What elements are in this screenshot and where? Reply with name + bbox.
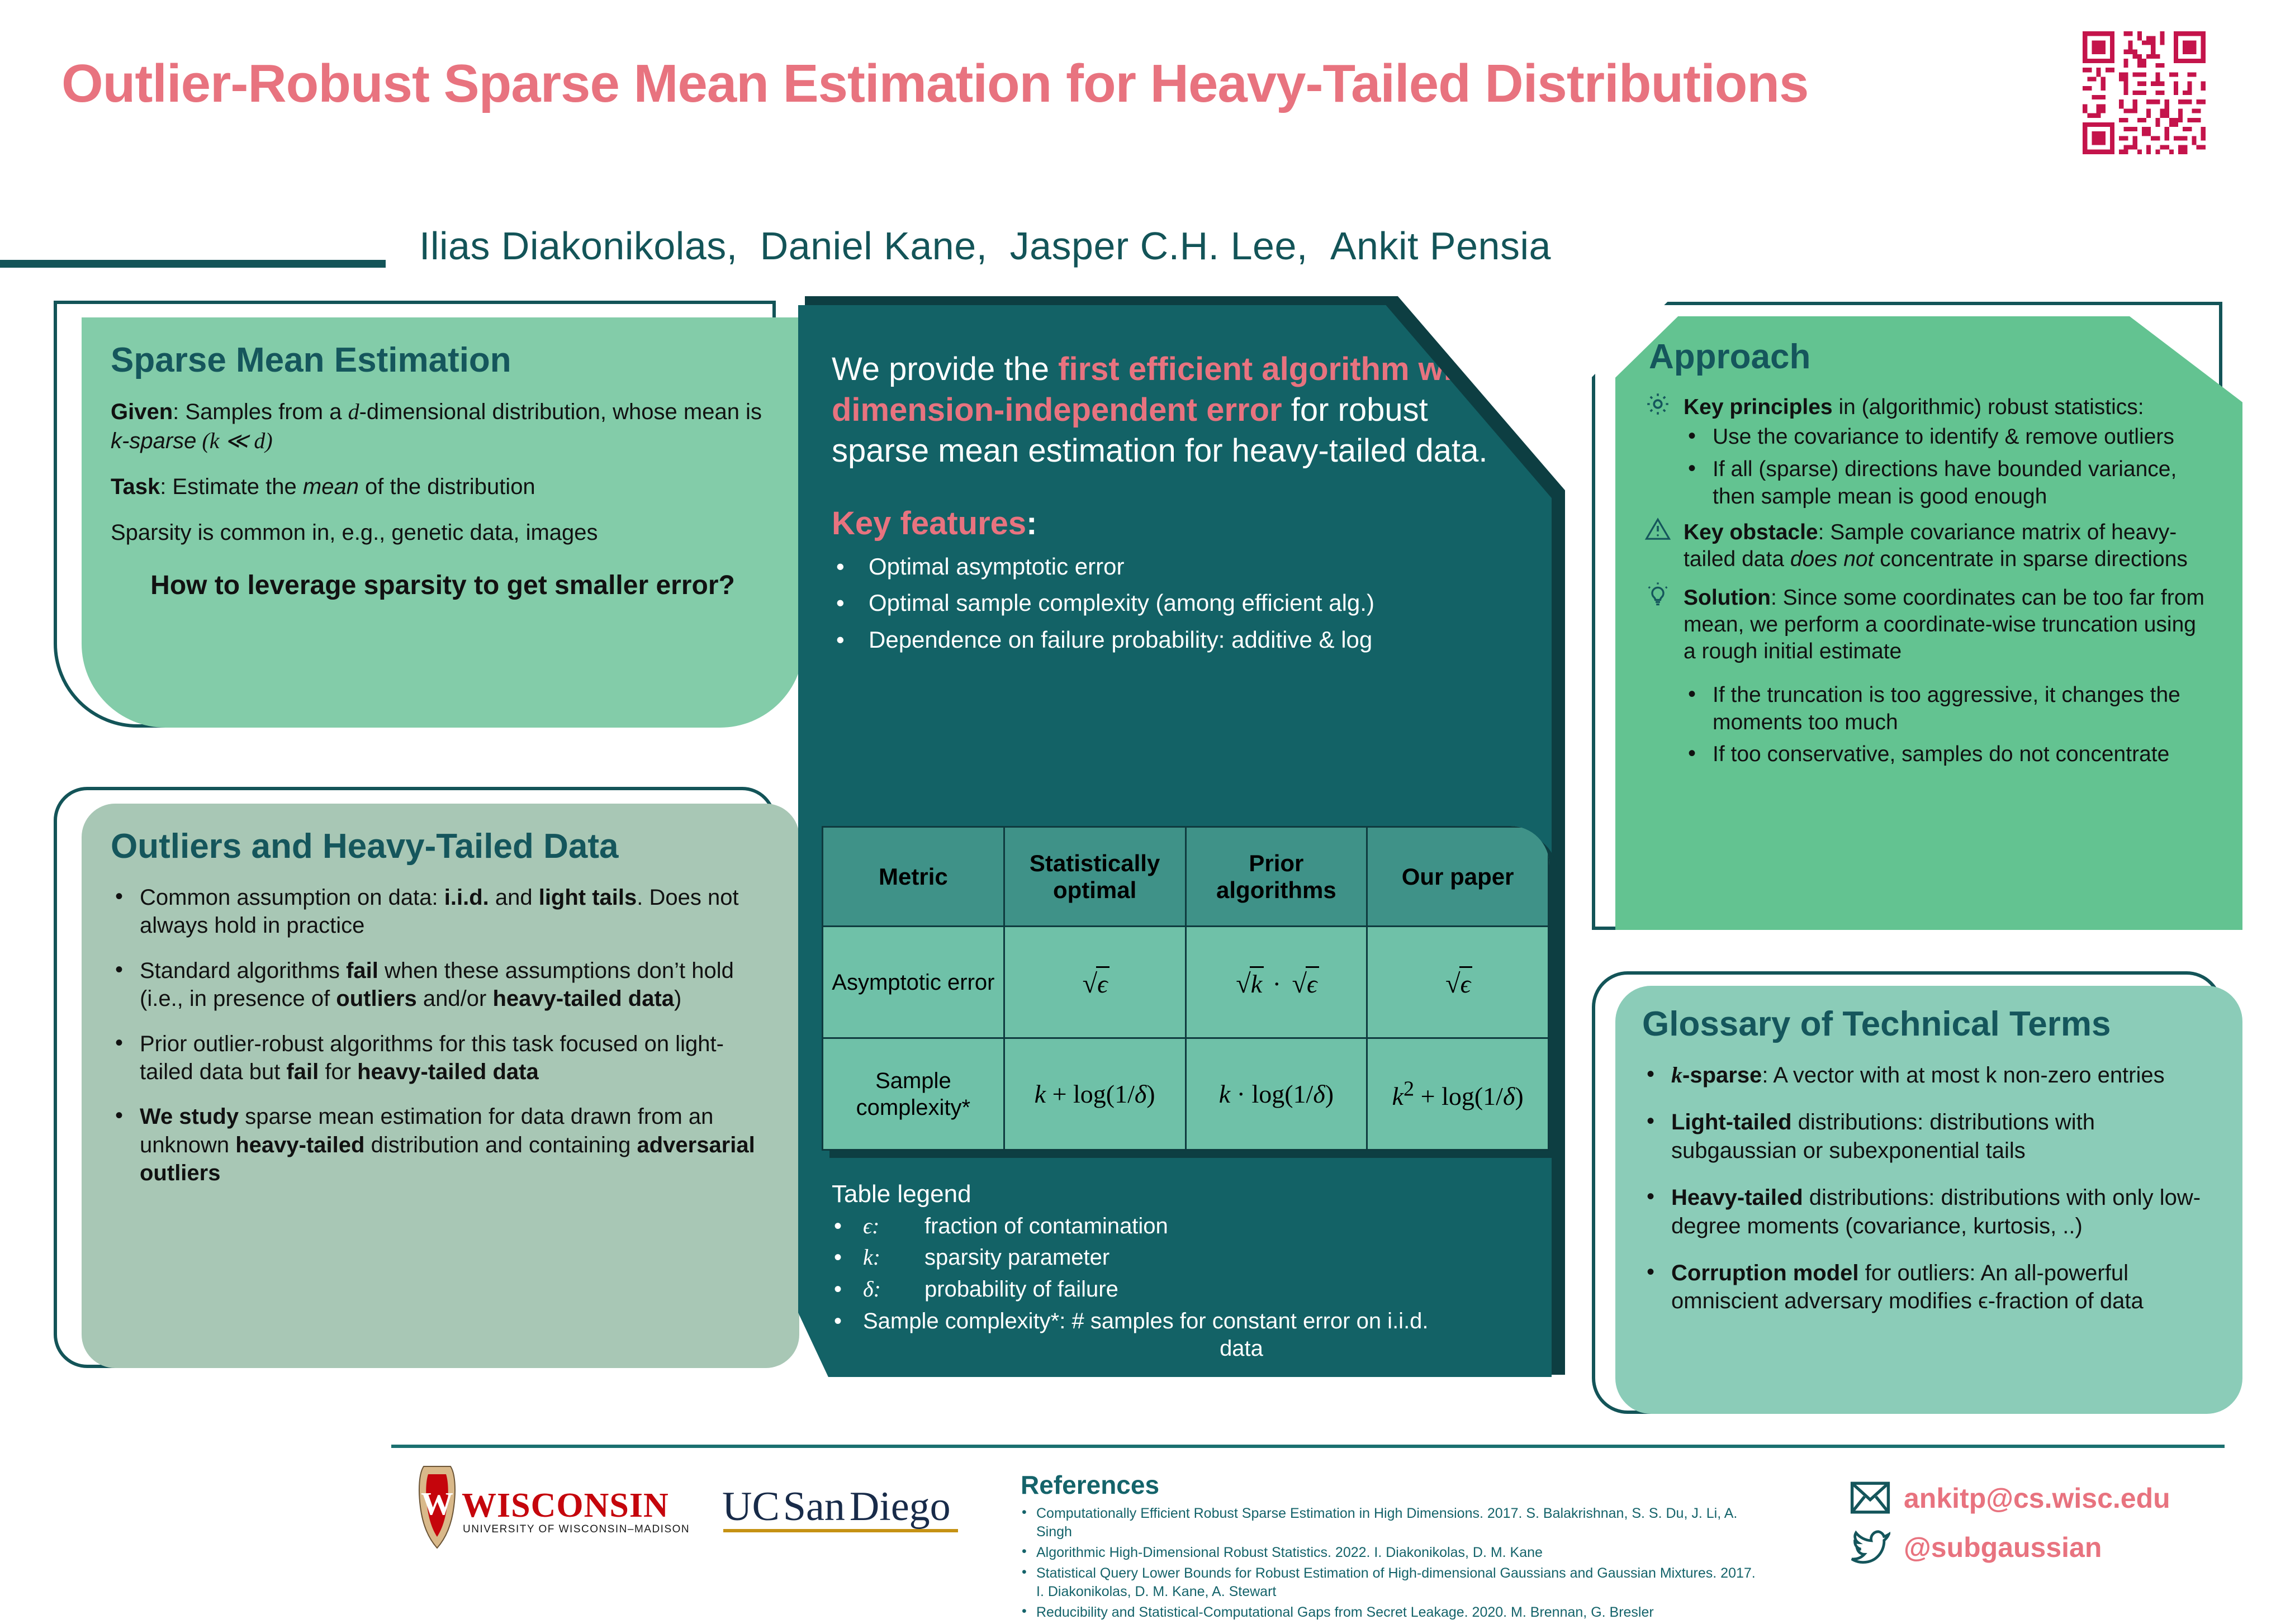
panel-outliers-heavy-tailed: Outliers and Heavy-Tailed Data Common as… <box>82 804 799 1368</box>
given-symbol-d: d <box>348 399 359 424</box>
list-item: Statistical Query Lower Bounds for Robus… <box>1021 1564 1758 1601</box>
key-obstacle-label: Key obstacle <box>1684 520 1818 544</box>
twitter-handle-text[interactable]: @subgaussian <box>1904 1531 2102 1564</box>
task-emphasis: mean <box>303 474 359 499</box>
col-prior-algorithms: Prior algorithms <box>1186 827 1367 927</box>
panel-heading: Glossary of Technical Terms <box>1642 1006 2216 1042</box>
key-features-heading: Key features: <box>832 505 1518 542</box>
cell-our-paper: ϵ <box>1367 927 1549 1038</box>
legend-text: probability of failure <box>924 1277 1118 1302</box>
panel-glossary: Glossary of Technical Terms k-sparse: A … <box>1615 986 2242 1414</box>
table-row: Asymptotic error ϵ k · ϵ ϵ <box>823 927 1549 1038</box>
given-ksparse: k-sparse <box>111 429 196 453</box>
list-item: Standard algorithms fail when these assu… <box>111 957 770 1013</box>
glossary-def: : A vector with at most k non-zero entri… <box>1762 1063 2164 1088</box>
given-paragraph: Given: Samples from a d-dimensional dist… <box>111 397 775 455</box>
gear-icon <box>1644 391 1677 423</box>
solution-block: Solution: Since some coordinates can be … <box>1649 585 2213 768</box>
main-claim: We provide the first efficient algorithm… <box>832 349 1518 471</box>
glossary-list: k-sparse: A vector with at most k non-ze… <box>1642 1061 2216 1316</box>
cell-stat-optimal: ϵ <box>1004 927 1186 1038</box>
table-legend: Table legend ϵ:fraction of contamination… <box>832 1179 1536 1367</box>
logo-university-of-wisconsin: W WISCONSIN UNIVERSITY OF WISCONSIN–MADI… <box>414 1463 704 1552</box>
list-item: k:sparsity parameter <box>832 1244 1536 1271</box>
col-metric: Metric <box>823 827 1004 927</box>
list-item: Algorithmic High-Dimensional Robust Stat… <box>1021 1544 1758 1562</box>
list-item: If the truncation is too aggressive, it … <box>1684 681 2213 736</box>
col-our-paper: Our paper <box>1367 827 1549 927</box>
panel-approach: Approach Key principles in (algorithmic)… <box>1615 316 2242 930</box>
panel-heading: Approach <box>1649 339 2213 375</box>
legend-heading: Table legend <box>832 1179 1536 1209</box>
list-item: Heavy-tailed distributions: distribution… <box>1642 1184 2216 1240</box>
key-principles-label: Key principles <box>1684 395 1833 419</box>
svg-text:W: W <box>421 1485 453 1522</box>
list-item: Reducibility and Statistical-Computation… <box>1021 1603 1758 1622</box>
list-item: If too conservative, samples do not conc… <box>1684 740 2213 768</box>
key-obstacle-block: Key obstacle: Sample covariance matrix o… <box>1649 519 2213 573</box>
outliers-bullet-list: Common assumption on data: i.i.d. and li… <box>111 884 770 1188</box>
list-item: k-sparse: A vector with at most k non-ze… <box>1642 1061 2216 1089</box>
legend-last-text: Sample complexity*: # samples for consta… <box>863 1309 1429 1333</box>
list-item: Computationally Efficient Robust Sparse … <box>1021 1504 1758 1541</box>
author-name: Daniel Kane, <box>760 224 988 268</box>
sparsity-note: Sparsity is common in, e.g., genetic dat… <box>111 518 775 547</box>
table-header-row: Metric Statistically optimal Prior algor… <box>823 827 1549 927</box>
key-principles-bullets: Use the covariance to identify & remove … <box>1684 423 2213 510</box>
logo-uc-san-diego: UCSanDiego <box>721 1481 961 1542</box>
contact-section: ankitp@cs.wisc.edu @subgaussian <box>1850 1481 2253 1579</box>
legend-last-text-2: data <box>863 1335 1536 1362</box>
claim-pre: We provide the <box>832 351 1058 387</box>
twitter-bird-icon <box>1850 1530 1890 1565</box>
key-principles-rest: in (algorithmic) robust statistics: <box>1833 395 2144 419</box>
key-principles-text: Key principles in (algorithmic) robust s… <box>1684 394 2213 421</box>
key-principles-block: Key principles in (algorithmic) robust s… <box>1649 394 2213 510</box>
task-text-a: : Estimate the <box>160 474 303 499</box>
list-item: ϵ:fraction of contamination <box>832 1213 1536 1240</box>
list-item: δ:probability of failure <box>832 1276 1536 1303</box>
panel-sparse-mean-estimation: Sparse Mean Estimation Given: Samples fr… <box>82 317 804 728</box>
envelope-icon <box>1850 1481 1890 1516</box>
task-paragraph: Task: Estimate the mean of the distribut… <box>111 472 775 501</box>
list-item: Sample complexity*: # samples for consta… <box>832 1308 1536 1362</box>
author-rule <box>0 260 386 268</box>
col-statistically-optimal: Statistically optimal <box>1004 827 1186 927</box>
given-text-a: : Samples from a <box>173 400 348 424</box>
qr-code-icon[interactable] <box>2078 27 2210 159</box>
list-item: Prior outlier-robust algorithms for this… <box>111 1030 770 1086</box>
solution-label: Solution <box>1684 586 1771 610</box>
panel-heading: Outliers and Heavy-Tailed Data <box>111 828 770 865</box>
obstacle-emphasis: does not <box>1790 547 1874 571</box>
key-features-label: Key features <box>832 505 1026 542</box>
contact-twitter-row[interactable]: @subgaussian <box>1850 1530 2253 1565</box>
glossary-term: Light-tailed <box>1671 1110 1792 1134</box>
svg-text:UNIVERSITY OF WISCONSIN–MADISO: UNIVERSITY OF WISCONSIN–MADISON <box>463 1523 690 1535</box>
list-item: Light-tailed distributions: distribution… <box>1642 1108 2216 1165</box>
research-question: How to leverage sparsity to get smaller … <box>111 569 775 602</box>
cell-stat-optimal: k + log(1/δ) <box>1004 1038 1186 1150</box>
cell-prior-alg: k · log(1/δ) <box>1186 1038 1367 1150</box>
legend-text: sparsity parameter <box>924 1245 1109 1270</box>
svg-text:UCSanDiego: UCSanDiego <box>722 1484 951 1530</box>
panel-heading: Sparse Mean Estimation <box>111 342 775 378</box>
page-title: Outlier-Robust Sparse Mean Estimation fo… <box>61 56 2051 112</box>
key-features-colon: : <box>1026 505 1037 542</box>
glossary-term: Corruption model <box>1671 1261 1859 1285</box>
cell-metric: Sample complexity* <box>823 1038 1004 1150</box>
glossary-term: Heavy-tailed <box>1671 1185 1803 1210</box>
cell-our-paper: k2 + log(1/δ) <box>1367 1038 1549 1150</box>
solution-bullets: If the truncation is too aggressive, it … <box>1684 681 2213 768</box>
footer-divider <box>391 1445 2225 1448</box>
comparison-table: Metric Statistically optimal Prior algor… <box>822 826 1549 1151</box>
references-heading: References <box>1021 1470 1758 1500</box>
legend-symbol: ϵ: <box>863 1213 924 1240</box>
lightbulb-icon <box>1644 581 1677 614</box>
legend-text: fraction of contamination <box>924 1214 1168 1238</box>
contact-email-row[interactable]: ankitp@cs.wisc.edu <box>1850 1481 2253 1516</box>
list-item: Optimal asymptotic error <box>832 552 1518 581</box>
author-name: Jasper C.H. Lee, <box>1010 224 1308 268</box>
list-item: Common assumption on data: i.i.d. and li… <box>111 884 770 940</box>
svg-text:WISCONSIN: WISCONSIN <box>462 1487 669 1525</box>
list-item: If all (sparse) directions have bounded … <box>1684 455 2213 510</box>
list-item: Corruption model for outliers: An all-po… <box>1642 1259 2216 1316</box>
author-list: Ilias Diakonikolas,Daniel Kane,Jasper C.… <box>419 224 1573 268</box>
table-row: Sample complexity* k + log(1/δ) k · log(… <box>823 1038 1549 1150</box>
comparison-table-wrapper: Metric Statistically optimal Prior algor… <box>822 826 1549 1150</box>
task-label: Task <box>111 474 160 499</box>
legend-list: ϵ:fraction of contamination k:sparsity p… <box>832 1213 1536 1362</box>
task-text-b: of the distribution <box>359 474 535 499</box>
obstacle-text-b: concentrate in sparse directions <box>1874 547 2187 571</box>
given-text-b: -dimensional distribution, whose mean is <box>359 400 762 424</box>
list-item: Dependence on failure probability: addit… <box>832 625 1518 654</box>
given-label: Given <box>111 400 173 424</box>
list-item: Use the covariance to identify & remove … <box>1684 423 2213 450</box>
list-item: We study sparse mean estimation for data… <box>111 1103 770 1187</box>
solution-text: Solution: Since some coordinates can be … <box>1684 585 2213 666</box>
key-obstacle-text: Key obstacle: Sample covariance matrix o… <box>1684 519 2213 573</box>
author-name: Ankit Pensia <box>1330 224 1551 268</box>
legend-symbol: k: <box>863 1244 924 1271</box>
list-item: Optimal sample complexity (among efficie… <box>832 588 1518 617</box>
email-text[interactable]: ankitp@cs.wisc.edu <box>1904 1482 2170 1514</box>
references-section: References Computationally Efficient Rob… <box>1021 1470 1758 1624</box>
cell-metric: Asymptotic error <box>823 927 1004 1038</box>
given-paren: (k ≪ d) <box>196 428 272 453</box>
references-list: Computationally Efficient Robust Sparse … <box>1021 1504 1758 1622</box>
warning-triangle-icon <box>1644 516 1677 548</box>
key-features-list: Optimal asymptotic error Optimal sample … <box>832 552 1518 654</box>
author-name: Ilias Diakonikolas, <box>419 224 738 268</box>
legend-symbol: δ: <box>863 1276 924 1303</box>
cell-prior-alg: k · ϵ <box>1186 927 1367 1038</box>
